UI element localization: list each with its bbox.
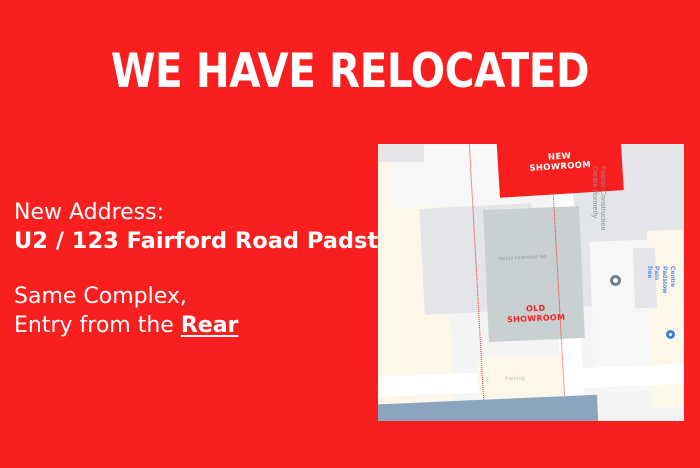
entry-note-prefix: Entry from the — [14, 313, 181, 338]
new-address-label: New Address: — [14, 198, 374, 227]
map-poi-label-padstow: Centre Padstow Pain free — [645, 266, 676, 293]
map-poi-label-padstow-line-2: Pain free — [645, 266, 661, 293]
location-map[interactable]: U2/ 123 FAIRFORD RD NEW SHOWROOM U5/123 … — [378, 144, 684, 421]
map-lot-cream-left-lower — [378, 222, 396, 342]
map-poi-dot-padstow[interactable] — [666, 330, 675, 339]
entry-note-block: Same Complex, Entry from the Rear — [14, 282, 374, 340]
map-building-grey-left — [378, 144, 424, 162]
map-poi-label-fosroc-line-1: Fosroc Construction — [598, 166, 606, 231]
address-copy-block: New Address: U2 / 123 Fairford Road Pads… — [14, 198, 374, 340]
entry-note-line-1: Same Complex, — [14, 282, 374, 311]
map-poi-label-padstow-line-1: Centre Padstow — [660, 266, 676, 293]
page-title: WE HAVE RELOCATED — [49, 48, 651, 95]
new-address-value: U2 / 123 Fairford Road Padstow — [14, 227, 374, 257]
map-poi-label-fosroc-line-2: Centre (formerly — [590, 166, 598, 231]
map-parcel-boundary — [468, 144, 566, 414]
map-poi-dot-fosroc[interactable] — [610, 275, 621, 286]
relocation-banner: WE HAVE RELOCATED New Address: U2 / 123 … — [0, 0, 700, 468]
map-poi-label-fosroc: Fosroc Construction Centre (formerly — [590, 166, 606, 231]
entry-note-emphasis: Rear — [181, 313, 239, 338]
entry-note-line-2: Entry from the Rear — [14, 311, 374, 340]
